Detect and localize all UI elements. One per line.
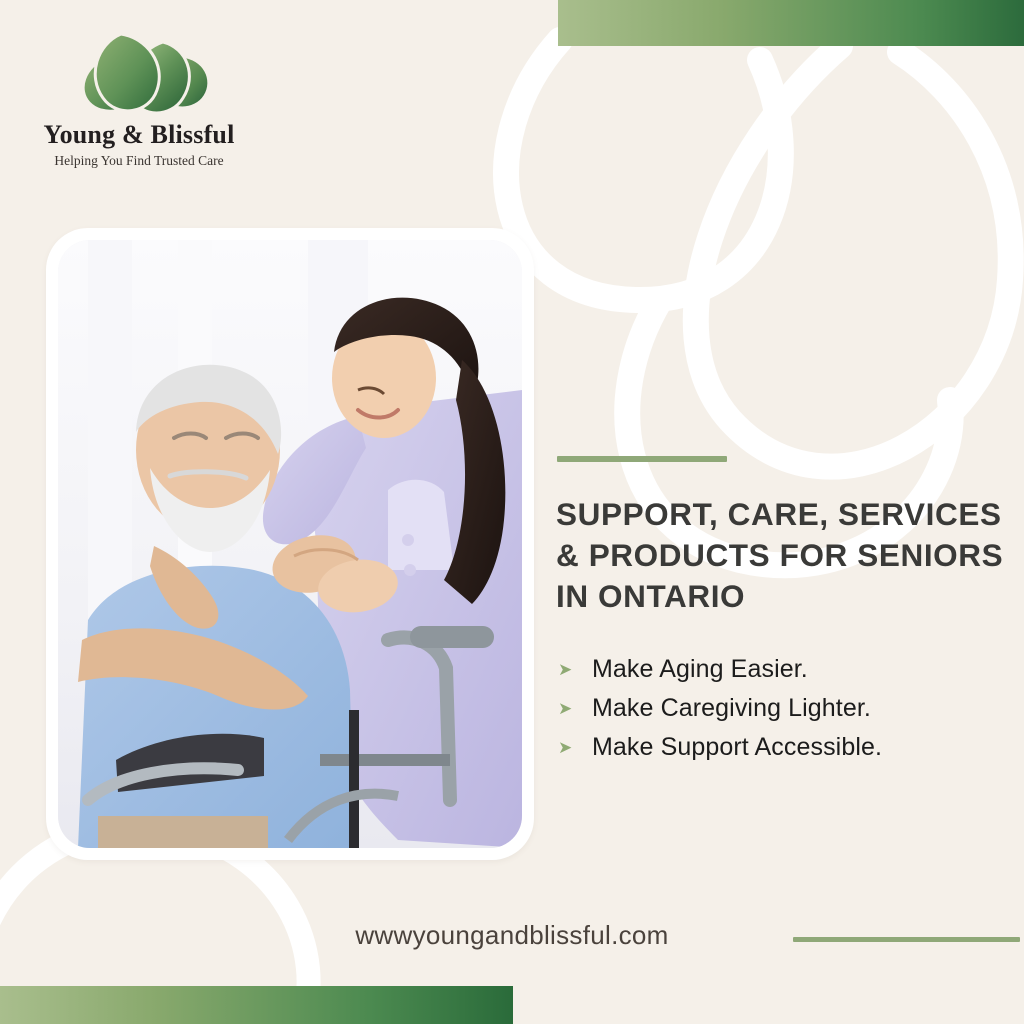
arrow-bullet-icon: ➤ [558,661,592,678]
three-leaf-cluster-icon [59,26,219,118]
brand-logo[interactable]: Young & Blissful Helping You Find Truste… [34,26,244,169]
poster-canvas: Young & Blissful Helping You Find Truste… [0,0,1024,1024]
headline-line-2: & PRODUCTS FOR SENIORS [556,535,1008,576]
headline-line-3: IN ONTARIO [556,576,1008,617]
accent-rule [557,456,727,462]
list-item: ➤ Make Support Accessible. [558,733,1018,762]
logo-tagline: Helping You Find Trusted Care [34,153,244,169]
arrow-bullet-icon: ➤ [558,739,592,756]
list-item-label: Make Caregiving Lighter. [592,694,871,723]
website-url[interactable]: wwwyoungandblissful.com [0,920,1024,951]
list-item: ➤ Make Caregiving Lighter. [558,694,1018,723]
hero-photo-card [46,228,534,860]
logo-wordmark: Young & Blissful [34,120,244,150]
list-item-label: Make Aging Easier. [592,655,808,684]
arrow-bullet-icon: ➤ [558,700,592,717]
footer-rule [793,937,1020,942]
page-title: SUPPORT, CARE, SERVICES & PRODUCTS FOR S… [556,494,1008,617]
bottom-green-bar [0,986,513,1024]
headline-line-1: SUPPORT, CARE, SERVICES [556,494,1008,535]
top-green-bar [558,0,1024,46]
logo-mark [59,26,219,118]
list-item-label: Make Support Accessible. [592,733,882,762]
list-item: ➤ Make Aging Easier. [558,655,1018,684]
benefit-list: ➤ Make Aging Easier. ➤ Make Caregiving L… [558,655,1018,772]
hero-photo [58,240,522,848]
